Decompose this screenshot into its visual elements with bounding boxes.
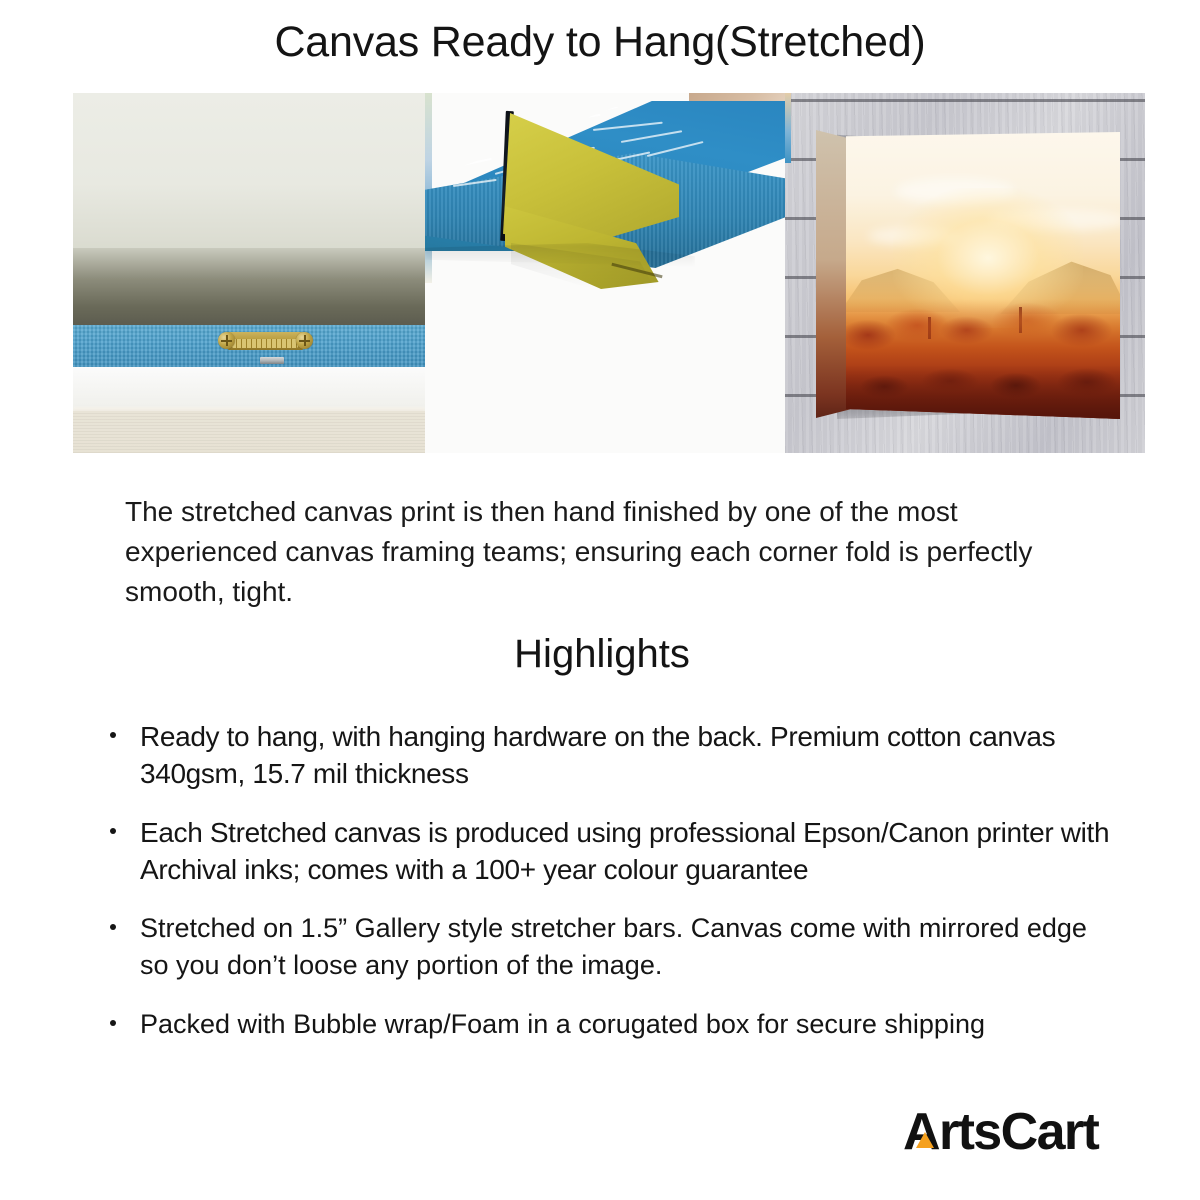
highlights-heading: Highlights [0, 630, 1200, 678]
corner-fold-detail-photo[interactable] [425, 93, 785, 453]
product-photo-strip [73, 93, 1145, 453]
canvas-back-shadowed-bar [73, 248, 425, 326]
adjacent-photo-sliver [785, 93, 791, 163]
bullet-dot-icon [110, 732, 116, 738]
raw-canvas-back [73, 411, 425, 453]
bullet-dot-icon [110, 1020, 116, 1026]
highlights-heading-label: Highlights [514, 630, 690, 678]
hanger-teeth [232, 339, 298, 348]
bullet-dot-icon [110, 828, 116, 834]
hanger-screw-left [218, 332, 235, 349]
list-item-text: Ready to hang, with hanging hardware on … [140, 721, 1055, 789]
list-item-text: Each Stretched canvas is produced using … [140, 817, 1109, 885]
page-title: Canvas Ready to Hang(Stretched) [0, 16, 1200, 68]
list-item: Stretched on 1.5” Gallery style stretche… [106, 910, 1116, 984]
highlights-list: Ready to hang, with hanging hardware on … [106, 718, 1116, 1065]
wave-wisp [453, 179, 497, 187]
sawtooth-hanger-icon [218, 330, 313, 354]
hanger-screw-right [296, 332, 313, 349]
canvas-print-face [846, 132, 1120, 419]
list-item: Each Stretched canvas is produced using … [106, 814, 1116, 888]
list-item: Ready to hang, with hanging hardware on … [106, 718, 1116, 792]
artscart-logo[interactable]: ArtsCart [903, 1106, 1098, 1158]
wave-wisp [621, 130, 682, 143]
orange-triangle-icon [916, 1132, 934, 1148]
canvas-gallery-wrap-side [816, 130, 850, 418]
bullet-dot-icon [110, 924, 116, 930]
list-item: Packed with Bubble wrap/Foam in a coruga… [106, 1006, 1116, 1043]
lead-paragraph: The stretched canvas print is then hand … [125, 492, 1075, 612]
canvas-back-upper-surface [73, 93, 425, 258]
list-item-text: Stretched on 1.5” Gallery style stretche… [140, 913, 1087, 980]
wave-wisp [593, 122, 663, 131]
hanging-canvas-on-wall-photo[interactable] [785, 93, 1145, 453]
list-item-text: Packed with Bubble wrap/Foam in a coruga… [140, 1009, 985, 1039]
wave-wisp [647, 141, 704, 157]
wall-nail [260, 357, 284, 364]
canvas-back-hanger-photo[interactable] [73, 93, 425, 453]
